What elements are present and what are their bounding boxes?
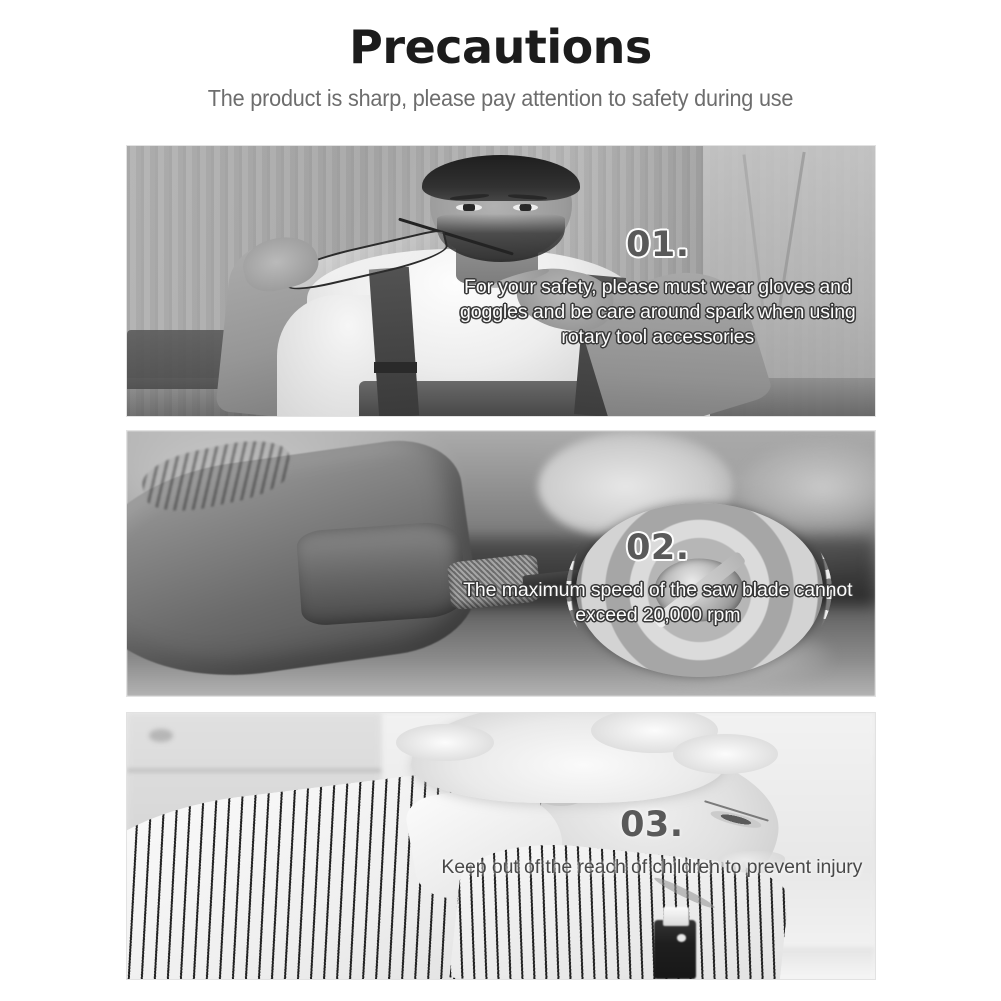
precaution-panel-1: 01. For your safety, please must wear gl… xyxy=(126,145,876,417)
bottle-cap xyxy=(663,907,690,926)
child-nose xyxy=(718,851,785,872)
rotary-tool-collar xyxy=(296,521,467,628)
hair-curl-1 xyxy=(396,724,493,761)
precaution-panel-2: 02. The maximum speed of the saw blade c… xyxy=(126,430,876,697)
precaution-panel-3: 03. Keep out of the reach of children to… xyxy=(126,712,876,980)
hair-curl-3 xyxy=(673,734,778,774)
circular-saw-blade-icon xyxy=(576,503,823,678)
eye-left xyxy=(456,204,481,211)
panel-3-photo xyxy=(127,713,875,979)
bottle-icon xyxy=(654,920,696,979)
bottle-highlight xyxy=(677,934,687,942)
header: Precautions The product is sharp, please… xyxy=(0,0,1001,112)
page-title: Precautions xyxy=(0,22,1001,73)
page-subtitle: The product is sharp, please pay attenti… xyxy=(30,85,971,113)
panel-1-photo xyxy=(127,146,875,416)
precautions-infographic: Precautions The product is sharp, please… xyxy=(0,0,1001,1001)
panel-2-photo xyxy=(127,431,875,696)
drawer-seam-1 xyxy=(127,769,381,772)
overall-buckle xyxy=(374,362,417,373)
